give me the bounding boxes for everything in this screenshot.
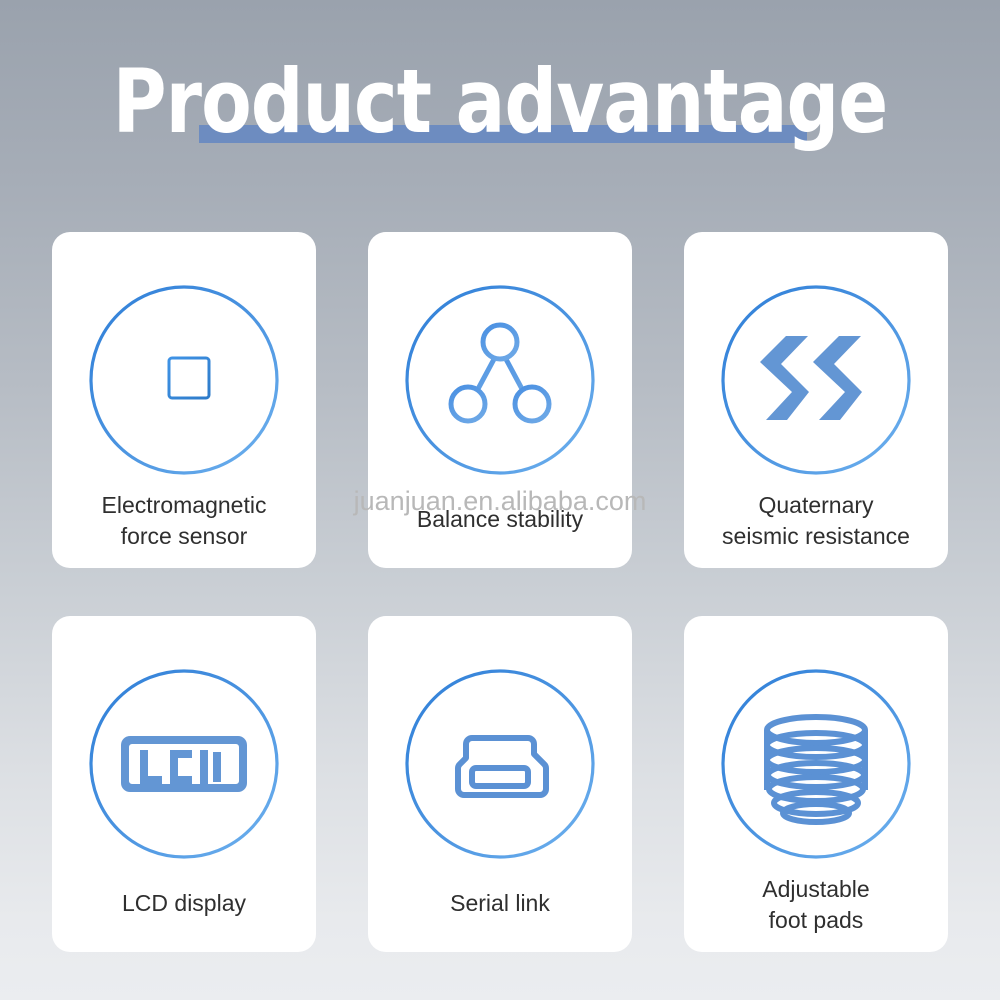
icon-container: [720, 284, 912, 476]
triangle-nodes-icon: [430, 310, 570, 450]
card-label-line2: seismic resistance: [692, 521, 940, 552]
card-label: Electromagnetic force sensor: [60, 490, 308, 552]
card-label-line1: Serial link: [376, 888, 624, 919]
card-label: Quaternary seismic resistance: [692, 490, 940, 552]
advantage-card-grid: Electromagnetic force sensor: [52, 232, 948, 952]
advantage-card-serial-link[interactable]: Serial link: [368, 616, 632, 952]
microchip-icon: [114, 310, 254, 450]
advantage-card-quaternary-seismic-resistance[interactable]: Quaternary seismic resistance: [684, 232, 948, 568]
icon-container: [88, 284, 280, 476]
advantage-card-adjustable-foot-pads[interactable]: Adjustable foot pads: [684, 616, 948, 952]
advantage-card-electromagnetic-force-sensor[interactable]: Electromagnetic force sensor: [52, 232, 316, 568]
icon-container: [404, 284, 596, 476]
lcd-screen-icon: [114, 694, 254, 834]
card-label: LCD display: [60, 888, 308, 919]
card-label-line1: Quaternary: [692, 490, 940, 521]
card-label-line1: LCD display: [60, 888, 308, 919]
page-title: Product advantage: [35, 50, 965, 154]
card-label: Serial link: [376, 888, 624, 919]
product-advantage-infographic: Product advantage: [0, 0, 1000, 1000]
card-label: Balance stability: [376, 504, 624, 535]
card-label-line1: Balance stability: [376, 504, 624, 535]
page-title-block: Product advantage: [0, 50, 1000, 160]
card-label-line2: force sensor: [60, 521, 308, 552]
double-chevron-seismic-icon: [746, 310, 886, 450]
advantage-card-lcd-display[interactable]: LCD display: [52, 616, 316, 952]
card-label-line1: Adjustable: [692, 874, 940, 905]
serial-port-icon: [430, 694, 570, 834]
icon-container: [404, 668, 596, 860]
card-label: Adjustable foot pads: [692, 874, 940, 936]
card-label-line2: foot pads: [692, 905, 940, 936]
card-label-line1: Electromagnetic: [60, 490, 308, 521]
stacked-foot-pad-icon: [746, 694, 886, 834]
icon-container: [88, 668, 280, 860]
advantage-card-balance-stability[interactable]: Balance stability: [368, 232, 632, 568]
icon-container: [720, 668, 912, 860]
